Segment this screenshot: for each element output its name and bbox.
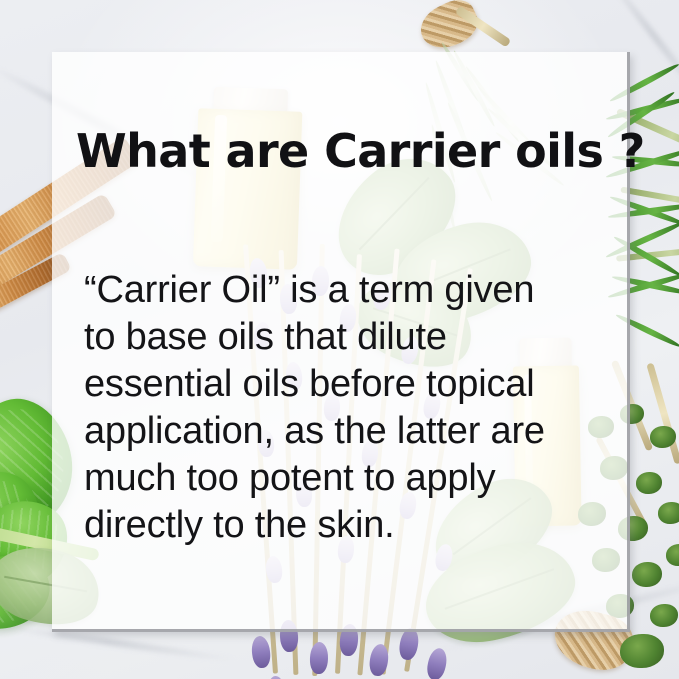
- page-title: What are Carrier oils ?: [76, 124, 645, 178]
- body-paragraph: “Carrier Oil” is a term given to base oi…: [84, 267, 624, 549]
- card-text-layer: What are Carrier oils ? “Carrier Oil” is…: [52, 52, 630, 632]
- infographic-image: What are Carrier oils ? “Carrier Oil” is…: [0, 0, 679, 679]
- thyme-sprig-bottom: [620, 634, 664, 668]
